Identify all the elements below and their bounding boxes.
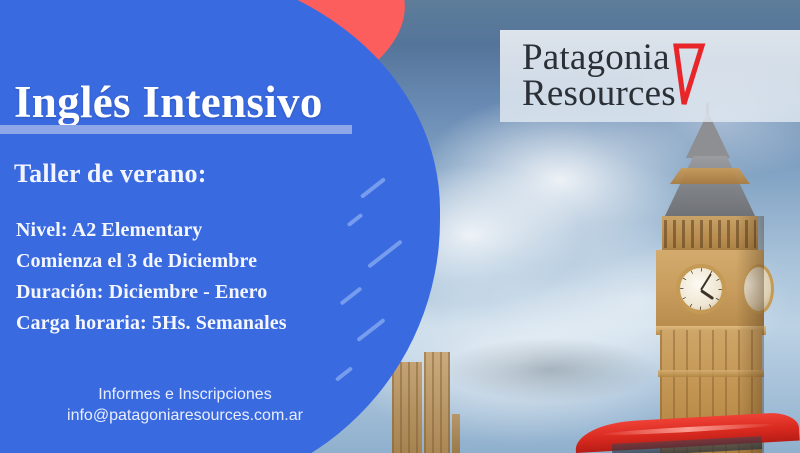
subtitle: Taller de verano:	[14, 159, 207, 189]
detail-weekly-hours: Carga horaria: 5Hs. Semanales	[16, 308, 287, 339]
detail-duration: Duración: Diciembre - Enero	[16, 277, 287, 308]
contact-block: Informes e Inscripciones info@patagoniar…	[0, 384, 370, 426]
logo-panel: Patagonia Resources	[500, 30, 800, 122]
westminster-abbey	[392, 352, 466, 453]
contact-heading: Informes e Inscripciones	[0, 384, 370, 405]
clock-numerals	[680, 268, 722, 310]
logo-line-1: Patagonia	[522, 40, 676, 76]
title-underline-bar	[0, 125, 352, 134]
contact-email[interactable]: info@patagoniaresources.com.ar	[0, 405, 370, 426]
detail-start-date: Comienza el 3 de Diciembre	[16, 246, 287, 277]
logo-wordmark: Patagonia Resources	[522, 40, 676, 111]
abbey-tower-left	[392, 362, 422, 453]
tower-roof	[664, 156, 756, 218]
detail-level: Nivel: A2 Elementary	[16, 215, 287, 246]
triangle-mark-icon	[672, 42, 706, 113]
page-title: Inglés Intensivo	[14, 76, 323, 128]
abbey-tower-right	[424, 352, 450, 453]
abbey-spire	[452, 414, 460, 453]
big-ben-clock-tower	[640, 112, 780, 442]
tower-roof-band	[670, 168, 750, 184]
logo-line-2: Resources	[522, 76, 676, 112]
poster-canvas: Patagonia Resources Inglés Intensivo Tal…	[0, 0, 800, 453]
course-details-list: Nivel: A2 Elementary Comienza el 3 de Di…	[16, 215, 287, 339]
